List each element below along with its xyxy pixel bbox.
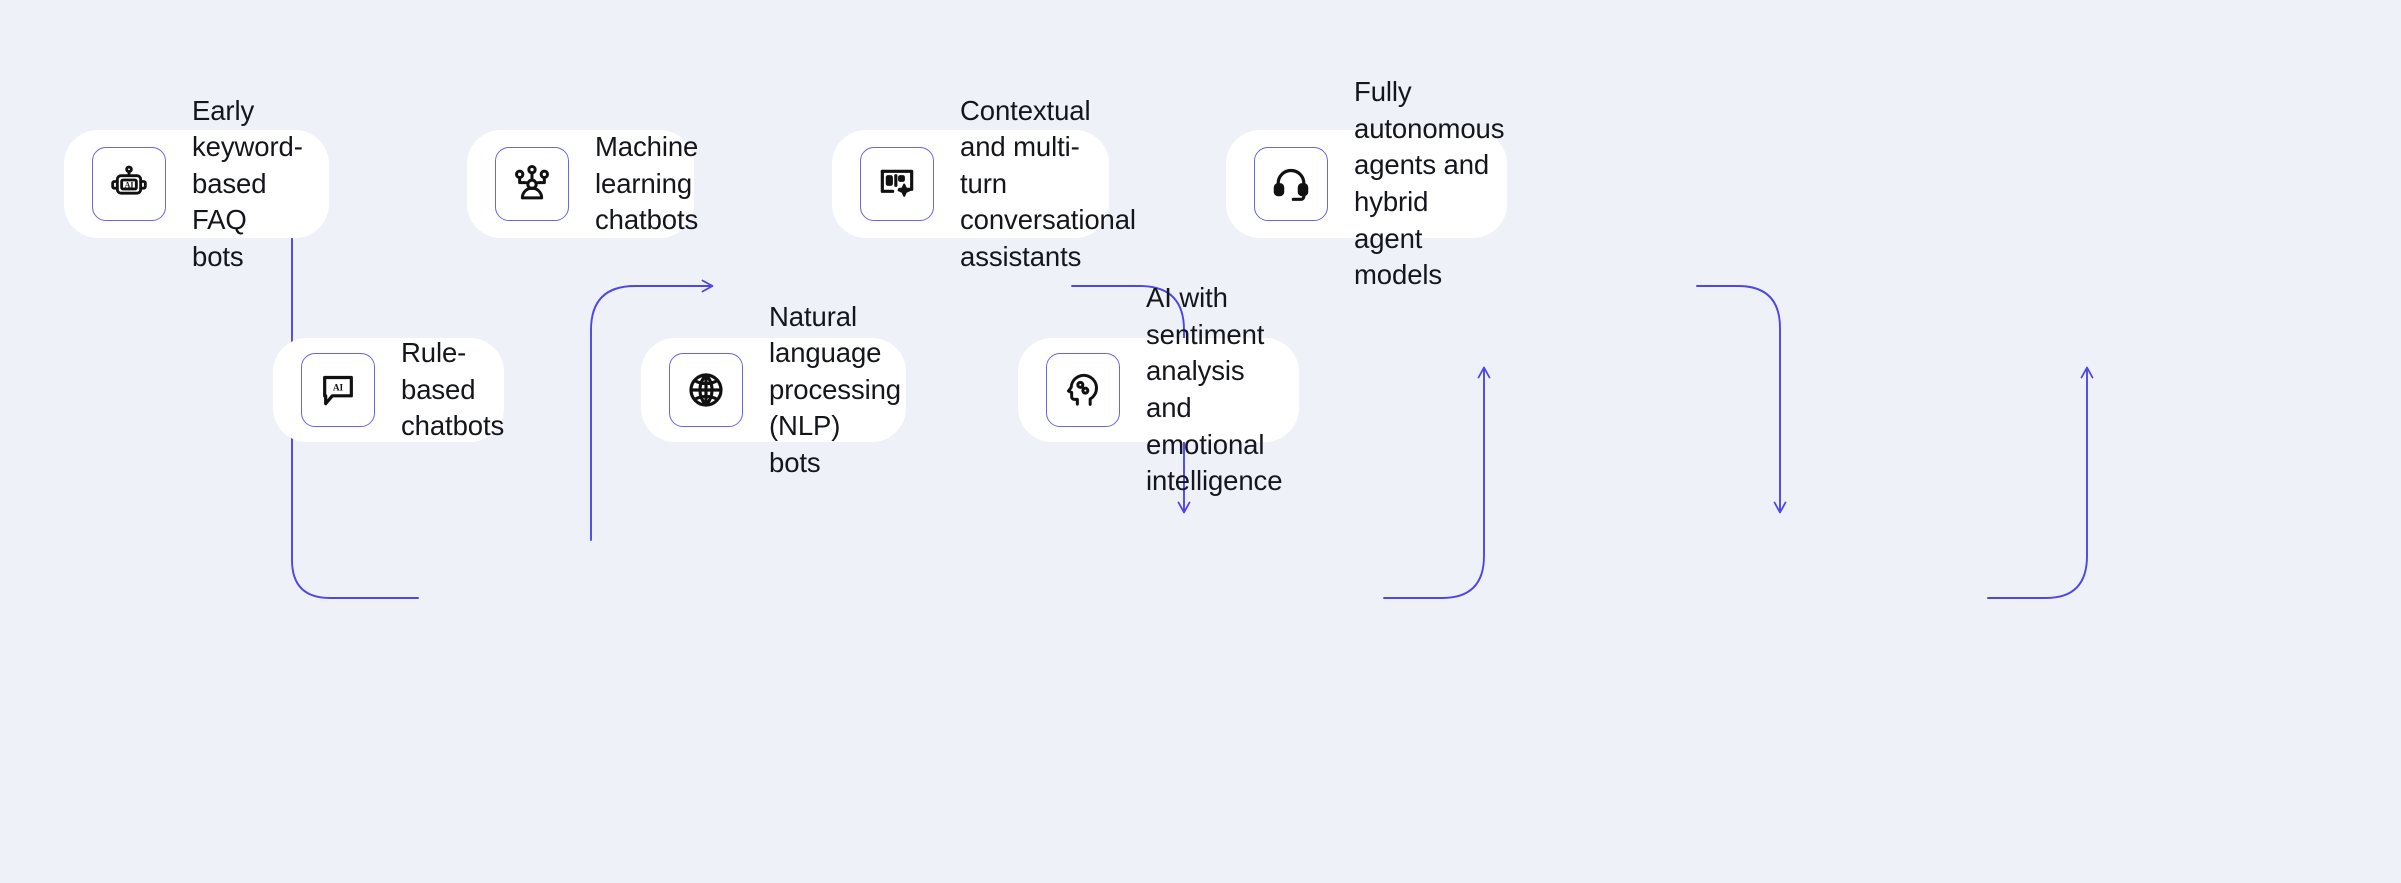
chat-bubble-ai-icon: AI	[301, 353, 375, 427]
node-label: Fully autonomous agents and hybrid agent…	[1354, 74, 1504, 293]
robot-ai-icon: AI	[92, 147, 166, 221]
svg-text:AI: AI	[333, 384, 344, 394]
edge-n5-n6	[1697, 286, 1780, 512]
network-person-icon	[495, 147, 569, 221]
node-card-rule-based-chatbots[interactable]: AI Rule-based chatbots	[273, 338, 504, 442]
node-card-fully-autonomous-agents[interactable]: Fully autonomous agents and hybrid agent…	[1226, 130, 1507, 238]
node-label: Machine learning chatbots	[595, 129, 698, 239]
node-card-ai-sentiment-analysis[interactable]: AI with sentiment analysis and emotional…	[1018, 338, 1299, 442]
svg-text:AI: AI	[124, 181, 133, 190]
node-card-nlp-bots[interactable]: Natural language processing (NLP) bots	[641, 338, 906, 442]
chat-panel-sparkle-icon	[860, 147, 934, 221]
edge-n6-n7	[1988, 368, 2087, 598]
node-label: Contextual and multi- turn conversationa…	[960, 93, 1136, 276]
diagram-canvas: AI Early keyword- based FAQ bots AI Rule…	[0, 0, 2401, 883]
head-neural-icon	[1046, 353, 1120, 427]
headset-icon	[1254, 147, 1328, 221]
node-card-machine-learning-chatbots[interactable]: Machine learning chatbots	[467, 130, 694, 238]
node-card-early-keyword-faq-bots[interactable]: AI Early keyword- based FAQ bots	[64, 130, 329, 238]
node-label: Early keyword- based FAQ bots	[192, 93, 303, 276]
node-card-contextual-assistants[interactable]: Contextual and multi- turn conversationa…	[832, 130, 1109, 238]
node-label: AI with sentiment analysis and emotional…	[1146, 280, 1282, 499]
edge-n4-n5	[1384, 368, 1484, 598]
globe-icon	[669, 353, 743, 427]
node-label: Rule-based chatbots	[401, 335, 504, 445]
node-label: Natural language processing (NLP) bots	[769, 299, 901, 482]
